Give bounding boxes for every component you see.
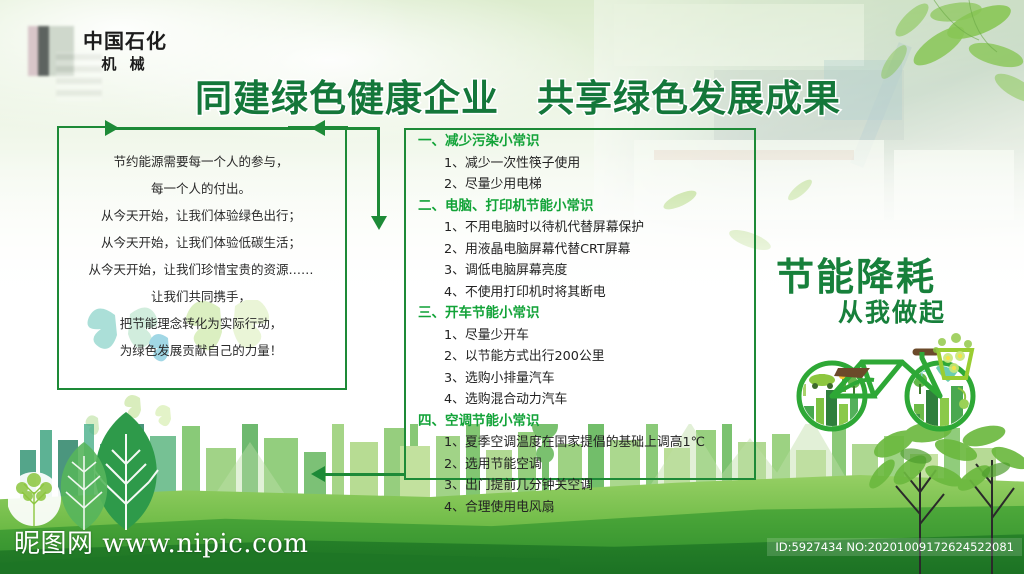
poem-line: 从今天开始，让我们体验绿色出行； bbox=[60, 202, 342, 229]
tips-item: 4、选购混合动力汽车 bbox=[444, 389, 748, 411]
energy-tips-list: 一、减少污染小常识 1、减少一次性筷子使用 2、尽量少用电梯 二、电脑、打印机节… bbox=[418, 131, 748, 518]
arrow-left-bottom-icon bbox=[311, 466, 325, 482]
tips-section-heading: 一、减少污染小常识 bbox=[418, 131, 748, 153]
tips-section-heading: 三、开车节能小常识 bbox=[418, 303, 748, 325]
frame-bottom-connector bbox=[318, 473, 406, 476]
brand-name-line1: 中国石化 bbox=[83, 31, 167, 51]
tips-item: 1、不用电脑时以待机代替屏幕保护 bbox=[444, 217, 748, 239]
frame-vertical-connector bbox=[377, 127, 380, 219]
watermark-url: www.nipic.com bbox=[102, 529, 308, 559]
tips-item: 2、选用节能空调 bbox=[444, 454, 748, 476]
poem-line: 把节能理念转化为实际行动， bbox=[60, 310, 342, 337]
watermark: 昵图网 www.nipic.com bbox=[14, 523, 308, 560]
brand-logo: 中国石化 机 械 bbox=[28, 26, 167, 76]
slogan-secondary: 从我做起 bbox=[838, 293, 946, 329]
tips-item: 3、出门提前几分钟关空调 bbox=[444, 475, 748, 497]
tips-item: 3、调低电脑屏幕亮度 bbox=[444, 260, 748, 282]
page-title: 同建绿色健康企业 共享绿色发展成果 bbox=[195, 68, 841, 122]
leaf-tree-illustration-icon bbox=[8, 404, 218, 534]
arrow-left-icon bbox=[311, 120, 325, 136]
sinopec-logo-icon bbox=[28, 26, 74, 76]
tips-item: 1、减少一次性筷子使用 bbox=[444, 153, 748, 175]
poem-line: 让我们共同携手， bbox=[60, 283, 342, 310]
poem-line: 每一个人的付出。 bbox=[60, 175, 342, 202]
poster-canvas: 中国石化 机 械 同建绿色健康企业 共享绿色发展成果 节约能源需要每一个人的参与… bbox=[0, 0, 1024, 574]
image-id-badge: ID:5927434 NO:20201009172624522081 bbox=[767, 538, 1022, 556]
tips-item: 1、尽量少开车 bbox=[444, 325, 748, 347]
poem-line: 从今天开始，让我们珍惜宝贵的资源…… bbox=[60, 256, 342, 283]
poem-line: 节约能源需要每一个人的参与， bbox=[60, 148, 342, 175]
tips-item: 2、用液晶电脑屏幕代替CRT屏幕 bbox=[444, 239, 748, 261]
tips-item: 4、不使用打印机时将其断电 bbox=[444, 282, 748, 304]
tips-item: 1、夏季空调温度在国家提倡的基础上调高1℃ bbox=[444, 432, 748, 454]
brand-name-line2: 机 械 bbox=[101, 57, 148, 72]
frame-top-connector bbox=[105, 127, 380, 130]
tips-section-heading: 二、电脑、打印机节能小常识 bbox=[418, 196, 748, 218]
poem-block: 节约能源需要每一个人的参与， 每一个人的付出。 从今天开始，让我们体验绿色出行；… bbox=[60, 148, 342, 364]
green-bicycle-icon bbox=[790, 328, 1000, 433]
tips-item: 2、尽量少用电梯 bbox=[444, 174, 748, 196]
tips-section-heading: 四、空调节能小常识 bbox=[418, 411, 748, 433]
tips-item: 3、选购小排量汽车 bbox=[444, 368, 748, 390]
poem-line: 为绿色发展贡献自己的力量！ bbox=[60, 337, 342, 364]
watermark-logo-text: 昵图网 bbox=[14, 529, 94, 559]
arrow-right-icon bbox=[105, 120, 119, 136]
tips-item: 2、以节能方式出行200公里 bbox=[444, 346, 748, 368]
tips-item: 4、合理使用电风扇 bbox=[444, 497, 748, 519]
arrow-down-icon bbox=[371, 216, 387, 230]
poem-line: 从今天开始，让我们体验低碳生活； bbox=[60, 229, 342, 256]
